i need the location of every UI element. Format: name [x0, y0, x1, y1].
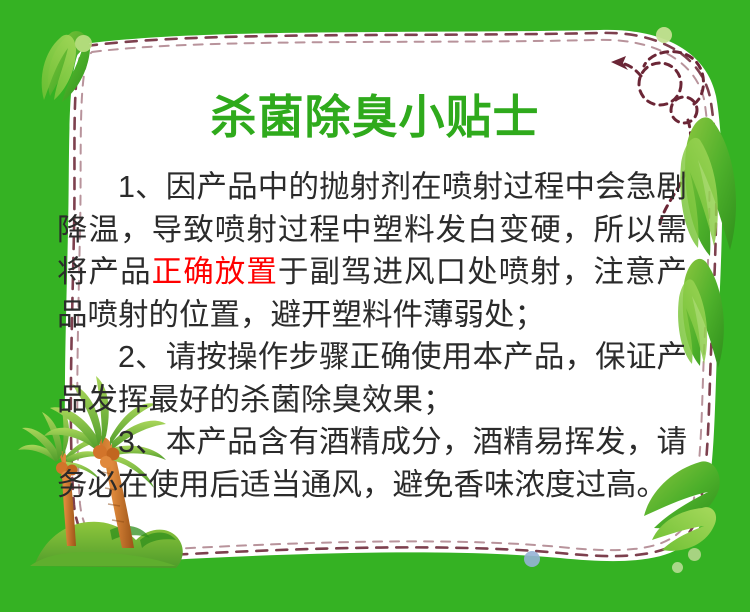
tips-body: 1、因产品中的抛射剂在喷射过程中会急剧降温，导致喷射过程中塑料发白变硬，所以需将…	[57, 166, 687, 506]
content-layer: 杀菌除臭小贴士 1、因产品中的抛射剂在喷射过程中会急剧降温，导致喷射过程中塑料发…	[0, 0, 750, 612]
tip-1-highlight: 正确放置	[152, 255, 278, 289]
dot-decoration-top-right	[656, 27, 672, 43]
tips-poster: 杀菌除臭小贴士 1、因产品中的抛射剂在喷射过程中会急剧降温，导致喷射过程中塑料发…	[0, 0, 750, 612]
dot-decoration-bottom-center	[524, 551, 540, 567]
page-title: 杀菌除臭小贴士	[0, 88, 750, 146]
dot-decoration-bottom-right-2	[672, 562, 683, 573]
dot-decoration-top-left	[75, 35, 92, 52]
dot-decoration-bottom-right-1	[688, 548, 701, 561]
tip-item-2: 2、请按操作步骤正确使用本产品，保证产品发挥最好的杀菌除臭效果；	[57, 336, 687, 421]
tip-item-1: 1、因产品中的抛射剂在喷射过程中会急剧降温，导致喷射过程中塑料发白变硬，所以需将…	[57, 166, 687, 336]
tip-item-3: 3、本产品含有酒精成分，酒精易挥发，请务必在使用后适当通风，避免香味浓度过高。	[57, 421, 687, 506]
